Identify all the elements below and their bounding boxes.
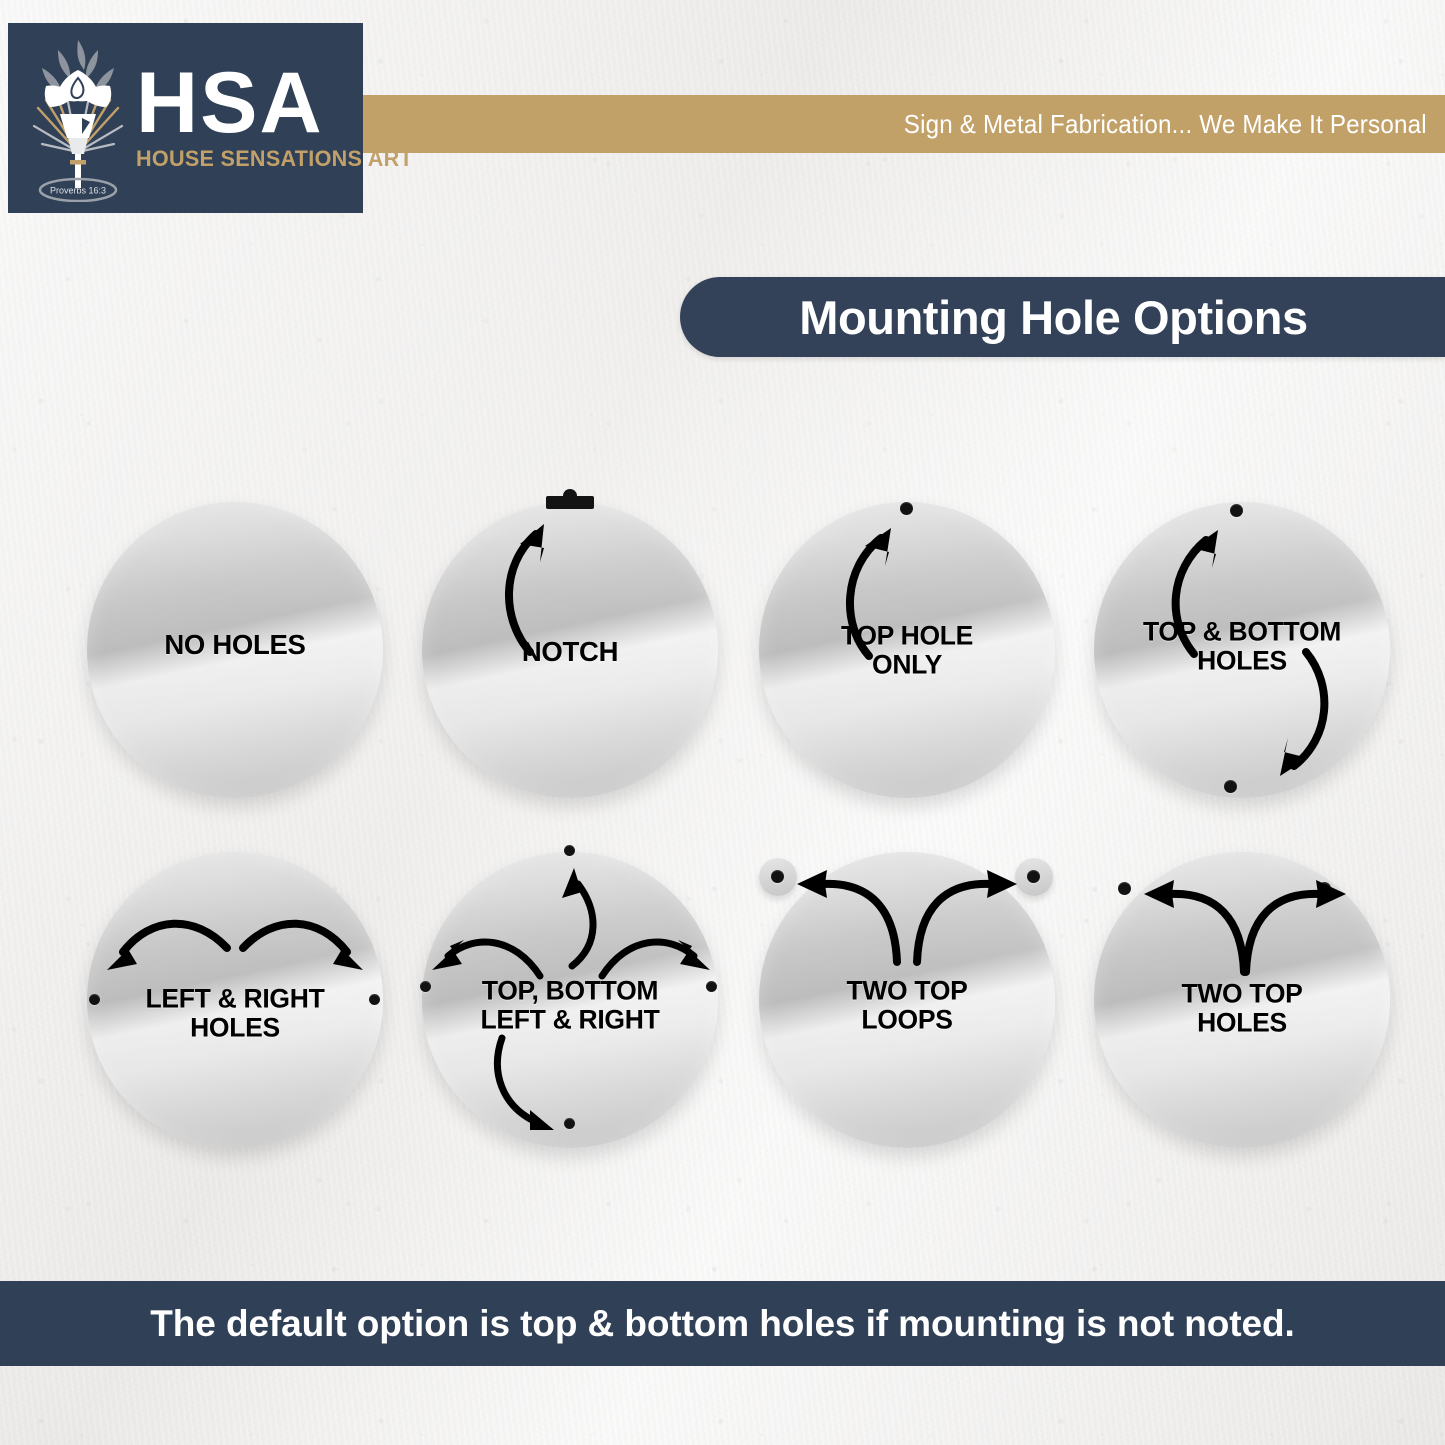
arrow-to-right-loop <box>895 866 1025 971</box>
option-top-bottom-holes[interactable]: TOP & BOTTOM HOLES <box>1072 470 1412 830</box>
tagline-text: Sign & Metal Fabrication... We Make It P… <box>903 109 1445 140</box>
option-label: TWO TOP LOOPS <box>767 976 1047 1033</box>
arrow-to-left-hole <box>95 912 235 1022</box>
arrow-to-right-hole <box>235 912 375 1022</box>
mounting-hole-top-left <box>1118 882 1131 895</box>
footer-note: The default option is top & bottom holes… <box>150 1303 1294 1345</box>
torch-flame-logo-icon: Proverbs 16:3 <box>24 34 132 202</box>
footer-banner: The default option is top & bottom holes… <box>0 1281 1445 1366</box>
arrow-to-left-hole <box>426 916 546 1006</box>
arrow-to-notch <box>478 500 608 660</box>
page-title-banner: Mounting Hole Options <box>680 277 1445 357</box>
option-top-bottom-left-right[interactable]: TOP, BOTTOM LEFT & RIGHT <box>400 820 740 1180</box>
tagline-banner: Sign & Metal Fabrication... We Make It P… <box>362 95 1445 153</box>
page-title: Mounting Hole Options <box>799 290 1326 345</box>
option-left-right-holes[interactable]: LEFT & RIGHT HOLES <box>65 820 405 1180</box>
arrow-to-bottom-hole <box>484 1032 594 1142</box>
loop-hole-left <box>771 870 784 883</box>
arrow-to-top-hole <box>1146 508 1276 658</box>
option-notch[interactable]: NOTCH <box>400 470 740 830</box>
option-two-top-holes[interactable]: TWO TOP HOLES <box>1072 820 1412 1180</box>
logo-wordmark: HSA HOUSE SENSATIONS ART <box>136 64 425 171</box>
option-label: NO HOLES <box>95 630 375 660</box>
logo-company-name: HOUSE SENSATIONS ART <box>136 146 413 172</box>
logo-verse-text: Proverbs 16:3 <box>50 186 106 196</box>
arrow-to-top-hole <box>819 506 949 666</box>
logo-initials: HSA <box>136 64 425 143</box>
option-label: TWO TOP HOLES <box>1102 979 1382 1036</box>
option-two-top-loops[interactable]: TWO TOP LOOPS <box>737 820 1077 1180</box>
arrow-to-bottom-hole <box>1224 648 1354 798</box>
option-top-hole-only[interactable]: TOP HOLE ONLY <box>737 470 1077 830</box>
option-no-holes[interactable]: NO HOLES <box>65 470 405 830</box>
mounting-hole-top <box>564 845 575 856</box>
mounting-options-grid: NO HOLES NOTCH TOP HOLE <box>0 470 1445 1280</box>
brand-logo: Proverbs 16:3 HSA HOUSE SENSATIONS ART <box>8 23 363 213</box>
loop-hole-right <box>1027 870 1040 883</box>
arrow-to-right-hole <box>596 916 716 1006</box>
arrow-to-top-right-hole <box>1224 876 1354 981</box>
